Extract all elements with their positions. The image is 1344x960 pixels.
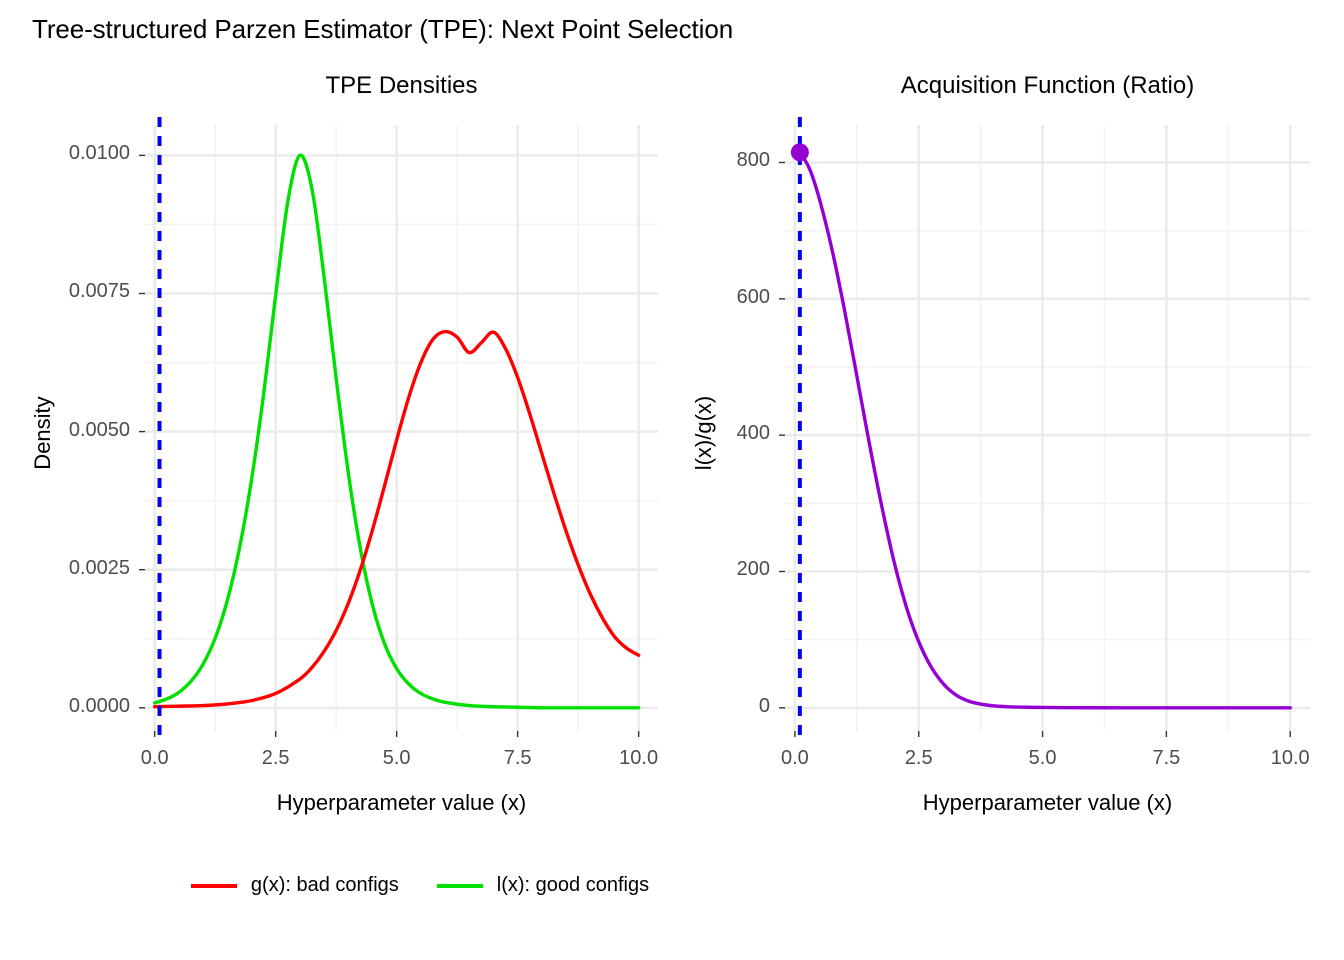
x-tick-label-right: 2.5 bbox=[859, 747, 979, 770]
x-tick-label-right: 5.0 bbox=[983, 747, 1103, 770]
legend-line-swatch-good bbox=[437, 884, 483, 888]
legend-label-bad: g(x): bad configs bbox=[251, 874, 399, 897]
y-tick-label-left: 0.0050 bbox=[0, 419, 130, 442]
y-tick-label-right: 200 bbox=[575, 558, 770, 581]
y-tick-label-right: 800 bbox=[575, 149, 770, 172]
x-tick-label-left: 10.0 bbox=[579, 747, 699, 770]
x-tick-label-right: 0.0 bbox=[735, 747, 855, 770]
legend-item-bad: g(x): bad configs bbox=[191, 874, 399, 897]
plot-area bbox=[0, 0, 1344, 960]
x-tick-label-left: 7.5 bbox=[458, 747, 578, 770]
x-axis-title-left: Hyperparameter value (x) bbox=[145, 790, 658, 816]
legend-label-good: l(x): good configs bbox=[497, 874, 649, 897]
x-tick-label-right: 10.0 bbox=[1230, 747, 1344, 770]
x-tick-label-left: 2.5 bbox=[216, 747, 336, 770]
legend: g(x): bad configs l(x): good configs bbox=[0, 874, 840, 897]
chart-canvas: Tree-structured Parzen Estimator (TPE): … bbox=[0, 0, 1344, 960]
legend-line-swatch-bad bbox=[191, 884, 237, 888]
x-axis-title-right: Hyperparameter value (x) bbox=[785, 790, 1310, 816]
legend-item-good: l(x): good configs bbox=[437, 874, 649, 897]
y-tick-label-right: 0 bbox=[575, 695, 770, 718]
y-tick-label-left: 0.0075 bbox=[0, 280, 130, 303]
y-tick-label-left: 0.0000 bbox=[0, 695, 130, 718]
y-tick-label-left: 0.0100 bbox=[0, 142, 130, 165]
x-tick-label-right: 7.5 bbox=[1106, 747, 1226, 770]
y-tick-label-right: 600 bbox=[575, 286, 770, 309]
x-tick-label-left: 5.0 bbox=[337, 747, 457, 770]
x-tick-label-left: 0.0 bbox=[95, 747, 215, 770]
y-tick-label-left: 0.0025 bbox=[0, 557, 130, 580]
y-tick-label-right: 400 bbox=[575, 422, 770, 445]
